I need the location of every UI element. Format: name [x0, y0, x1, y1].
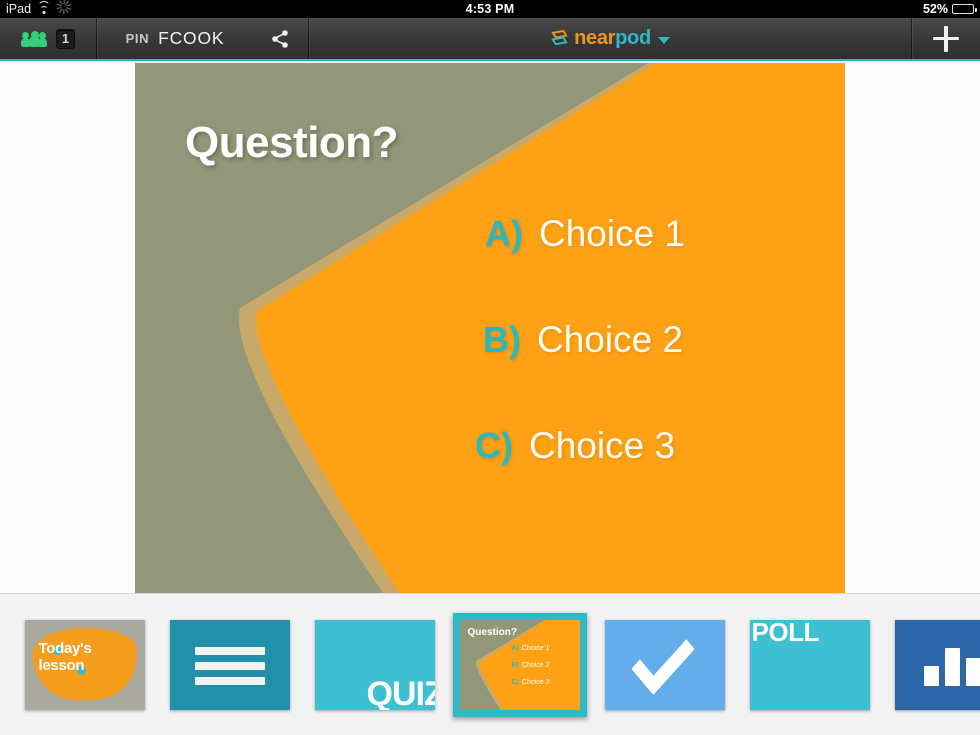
thumbnail-label: Today's lesson: [39, 640, 139, 674]
thumbnail-checkmark[interactable]: [605, 620, 725, 710]
choice-text: Choice 1: [539, 213, 685, 255]
battery-icon: [952, 4, 974, 14]
line-bar: [195, 662, 265, 670]
current-slide[interactable]: Question? A) Choice 1 B) Choice 2 C) Cho…: [135, 63, 845, 593]
check-icon: [631, 623, 695, 695]
thumbnail-choice-text: Choice 2: [522, 662, 550, 669]
choice-item: B) Choice 2: [475, 319, 835, 361]
thumbnail-quiz[interactable]: QUIZ: [315, 620, 435, 710]
choice-item: A) Choice 1: [475, 213, 835, 255]
slide-choices: A) Choice 1 B) Choice 2 C) Choice 3: [475, 213, 835, 531]
thumbnail-choice-letter: B): [512, 662, 519, 669]
thumbnail-todays-lesson[interactable]: Today's lesson: [25, 620, 145, 710]
line-bar: [195, 647, 265, 655]
slide-title: Question?: [185, 118, 398, 168]
thumbnail-slot: POLL: [737, 610, 882, 720]
battery-percent-label: 52%: [923, 0, 948, 18]
lesson-line-1: Today's: [39, 640, 139, 657]
logo-text-near: near: [574, 27, 615, 49]
chevron-down-icon: [658, 37, 670, 44]
choice-text: Choice 3: [529, 425, 675, 467]
share-button[interactable]: [253, 18, 308, 59]
thumbnail-poll[interactable]: POLL: [750, 620, 870, 710]
nearpod-app: iPad 4:53 PM 52% 1 PIN FCOOK: [0, 0, 980, 735]
status-bar-clock: 4:53 PM: [0, 0, 980, 18]
thumbnail-choice: A) Choice 1: [512, 645, 550, 652]
thumbnail-label: POLL: [752, 620, 819, 648]
nearpod-menu-button[interactable]: nearpod: [309, 18, 911, 59]
lesson-line-2: lesson: [39, 657, 139, 674]
pin-label: PIN: [126, 31, 149, 46]
people-icon: [21, 31, 47, 47]
thumbnail-choice-letter: A): [512, 645, 519, 652]
thumbnail-choice: C) Choice 3: [512, 679, 550, 686]
participants-count-badge: 1: [56, 29, 75, 49]
status-bar-right: 52%: [923, 0, 974, 18]
add-button[interactable]: [912, 18, 980, 59]
logo-text-pod: pod: [615, 27, 651, 49]
thumbnail-menu-lines[interactable]: [170, 620, 290, 710]
chart-bar: [945, 648, 960, 686]
thumbnail-slot: QUIZ: [302, 610, 447, 720]
chart-bar: [966, 658, 980, 686]
plus-icon: [933, 26, 959, 52]
choice-letter: C): [475, 425, 529, 467]
participants-button[interactable]: 1: [0, 18, 96, 59]
pin-code: FCOOK: [158, 28, 224, 49]
slide-filmstrip[interactable]: Today's lesson QUIZ Que: [0, 595, 980, 735]
thumbnail-choice: B) Choice 2: [512, 662, 550, 669]
thumbnail-choices: A) Choice 1 B) Choice 2 C) Choice 3: [512, 645, 550, 696]
thumbnail-slot: [592, 610, 737, 720]
thumbnail-question-slide-selected[interactable]: Question? A) Choice 1 B) Choice 2 C) Cho…: [453, 613, 587, 717]
ios-status-bar: iPad 4:53 PM 52%: [0, 0, 980, 18]
thumbnail-slot: Question? A) Choice 1 B) Choice 2 C) Cho…: [447, 610, 592, 720]
thumbnail-label: QUIZ: [367, 675, 435, 710]
nearpod-toolbar: 1 PIN FCOOK nearpo: [0, 18, 980, 61]
choice-text: Choice 2: [537, 319, 683, 361]
share-icon: [272, 30, 289, 48]
thumbnail-title: Question?: [468, 627, 517, 638]
thumbnail-bar-chart[interactable]: [895, 620, 980, 710]
choice-letter: A): [485, 213, 539, 255]
choice-letter: B): [483, 319, 537, 361]
thumbnail-slot: [882, 610, 980, 720]
line-bar: [195, 677, 265, 685]
chart-bar: [924, 666, 939, 686]
thumbnail-choice-text: Choice 1: [522, 645, 550, 652]
pin-display[interactable]: PIN FCOOK: [97, 18, 253, 59]
nearpod-logo-icon: [550, 29, 569, 48]
thumbnail-slot: Today's lesson: [12, 610, 157, 720]
thumbnail-choice-letter: C): [512, 679, 519, 686]
thumbnail-choice-text: Choice 3: [522, 679, 550, 686]
slide-stage: Question? A) Choice 1 B) Choice 2 C) Cho…: [0, 63, 980, 594]
thumbnail-slot: [157, 610, 302, 720]
choice-item: C) Choice 3: [475, 425, 835, 467]
